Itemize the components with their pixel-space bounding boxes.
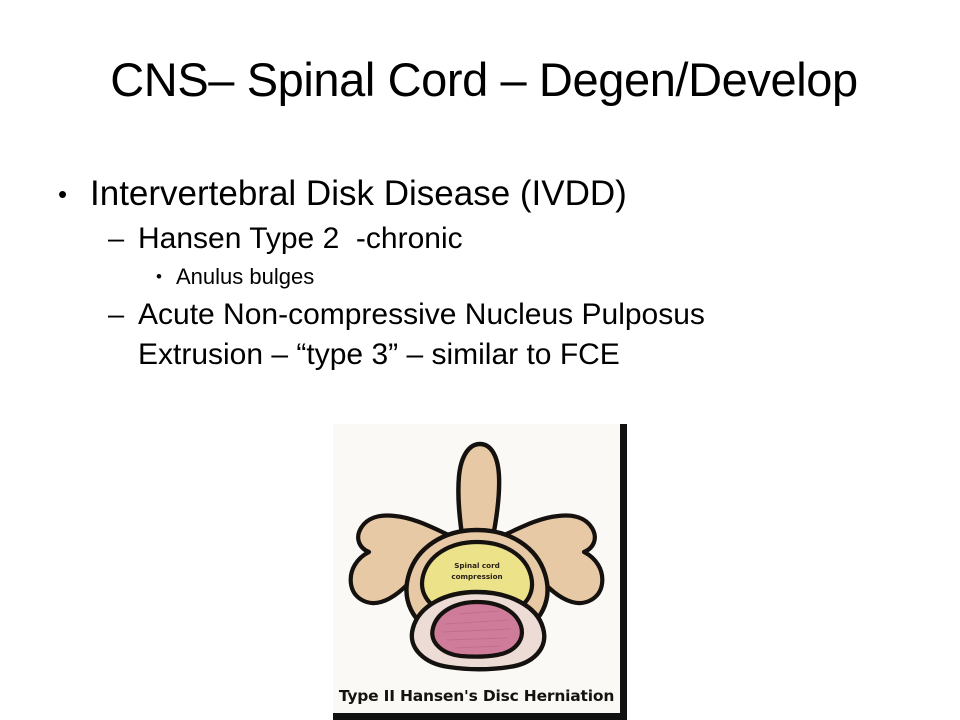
vertebra-cross-section-illustration: Spinal cord compression (333, 424, 620, 682)
bullet-marker-dot: • (156, 260, 176, 293)
bullet-marker-dash: – (108, 219, 138, 259)
figure-inner-label-line2: compression (451, 572, 502, 581)
bullet-level1-ivdd: • Intervertebral Disk Disease (IVDD) (58, 172, 912, 216)
figure-caption: Type II Hansen's Disc Herniation (333, 687, 620, 705)
bullet-level2-hansen-type-2: – Hansen Type 2 -chronic (108, 219, 912, 259)
vertebra-diagram-image: Spinal cord compression Type II Hansen's… (333, 424, 627, 720)
outline-body: • Intervertebral Disk Disease (IVDD) – H… (52, 172, 912, 376)
bullet-marker-dot: • (58, 172, 90, 216)
bullet-level2-anpe: – Acute Non-compressive Nucleus Pulposus… (108, 295, 912, 375)
bullet-marker-dash: – (108, 295, 138, 335)
figure-inner-label-line1: Spinal cord (454, 561, 500, 570)
spinous-process (458, 444, 499, 542)
page-title: CNS– Spinal Cord – Degen/Develop (48, 52, 920, 108)
bullet-level1-text: Intervertebral Disk Disease (IVDD) (90, 172, 912, 216)
bullet-level3-anulus-bulges: • Anulus bulges (156, 260, 912, 293)
bullet-level2-text: Hansen Type 2 -chronic (138, 219, 912, 259)
slide-canvas: CNS– Spinal Cord – Degen/Develop • Inter… (0, 0, 960, 720)
bullet-level3-text: Anulus bulges (176, 260, 912, 293)
bullet-level2-text: Acute Non-compressive Nucleus Pulposus E… (138, 295, 778, 375)
